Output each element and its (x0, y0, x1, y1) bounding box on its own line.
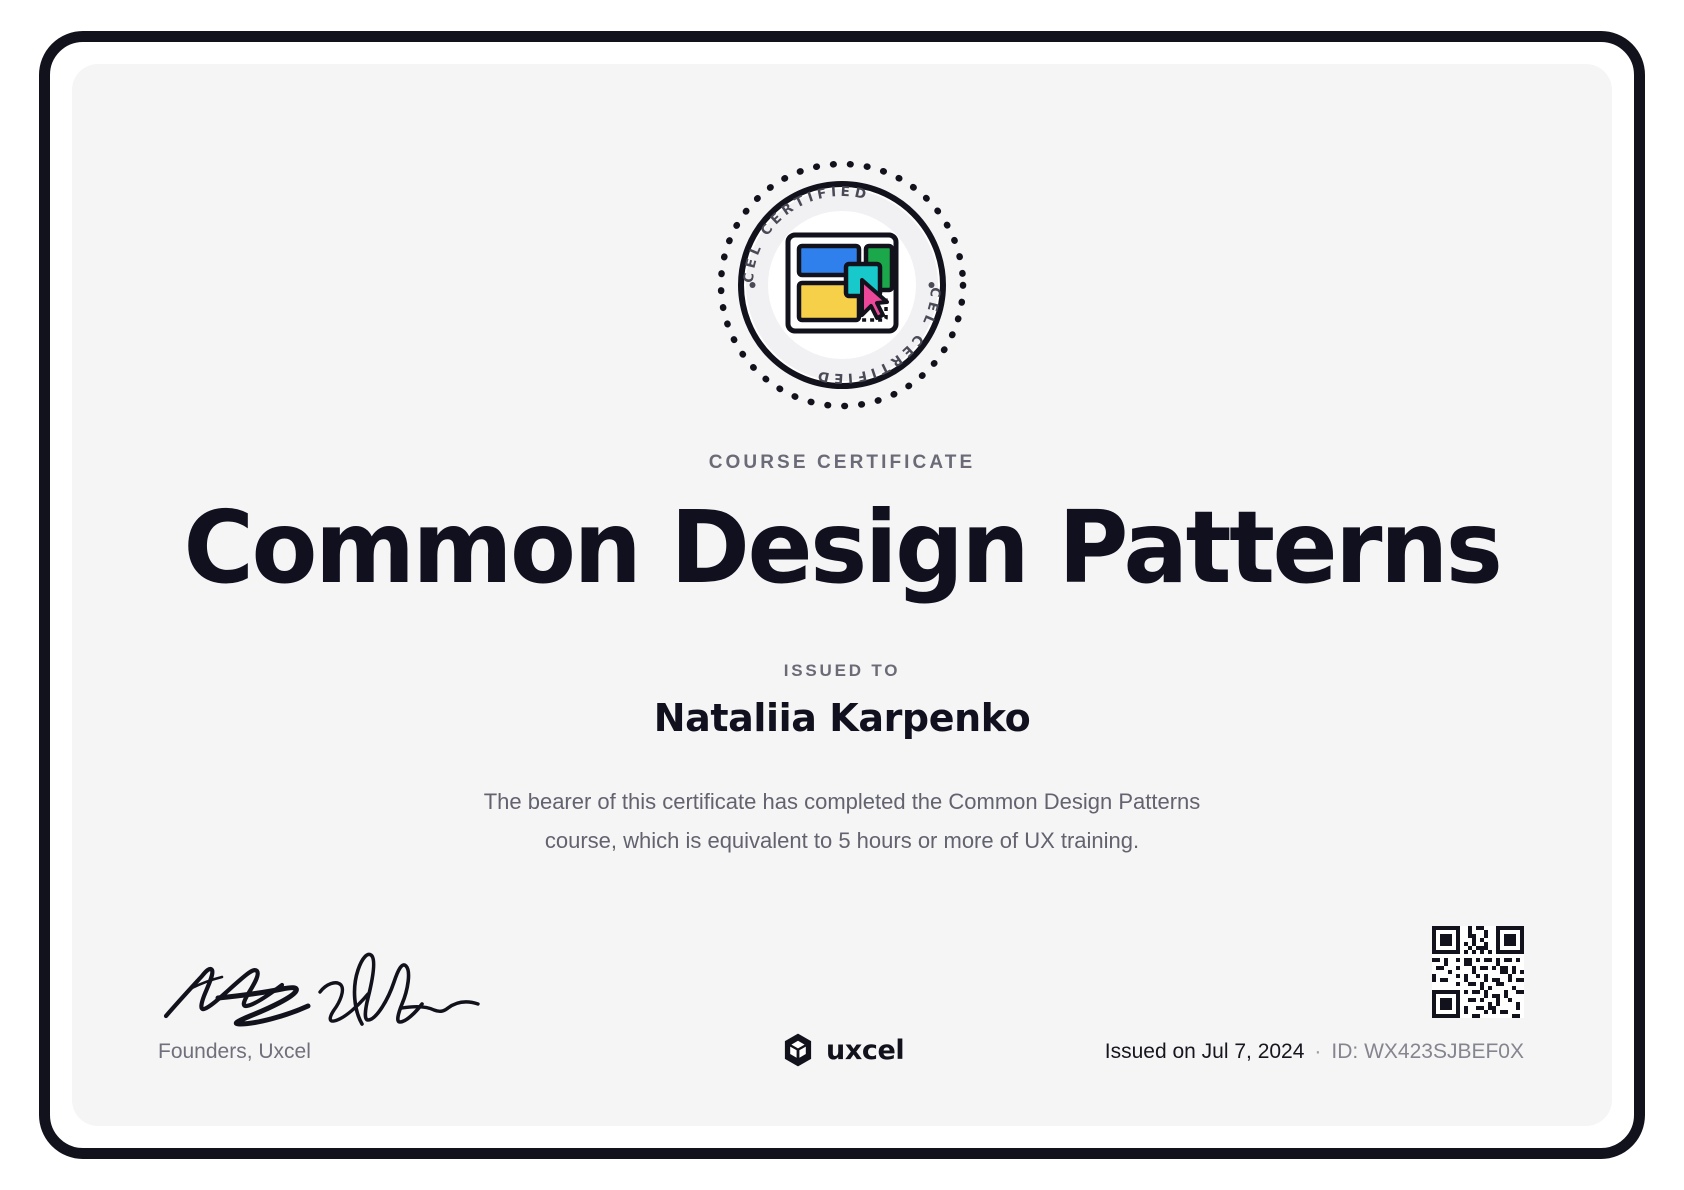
seal-separator-dot-right (929, 282, 935, 288)
design-patterns-icon (788, 235, 896, 331)
description-line-1: The bearer of this certificate has compl… (484, 789, 1201, 814)
seal-separator-dot-left (750, 282, 756, 288)
course-title: Common Design Patterns (103, 492, 1581, 604)
verification-qr-code[interactable] (1432, 926, 1524, 1018)
certificate-id: ID: WX423SJBEF0X (1331, 1040, 1524, 1063)
brand-logo: uxcel (780, 1032, 904, 1068)
issued-to-label: ISSUED TO (72, 661, 1612, 681)
signature-caption: Founders, Uxcel (158, 1040, 488, 1064)
meta-separator: · (1304, 1040, 1331, 1063)
certification-seal: UXCEL CERTIFIED UXCEL CERTIFIED (713, 156, 971, 414)
certificate-frame: UXCEL CERTIFIED UXCEL CERTIFIED (39, 31, 1645, 1159)
certificate-description: The bearer of this certificate has compl… (422, 782, 1262, 860)
signature-two-icon (306, 936, 606, 1028)
description-line-2: course, which is equivalent to 5 hours o… (545, 828, 1139, 853)
certificate-meta: Issued on Jul 7, 2024·ID: WX423SJBEF0X (1105, 1040, 1524, 1064)
certificate-body: UXCEL CERTIFIED UXCEL CERTIFIED (72, 64, 1612, 1126)
signature-images (158, 936, 488, 1028)
signature-block: Founders, Uxcel (158, 936, 488, 1064)
eyebrow-label: COURSE CERTIFICATE (72, 452, 1612, 474)
issued-on-text: Issued on Jul 7, 2024 (1105, 1040, 1305, 1063)
recipient-name: Nataliia Karpenko (72, 696, 1612, 740)
uxcel-hexagon-cube-icon (780, 1032, 816, 1068)
brand-name: uxcel (826, 1035, 904, 1066)
